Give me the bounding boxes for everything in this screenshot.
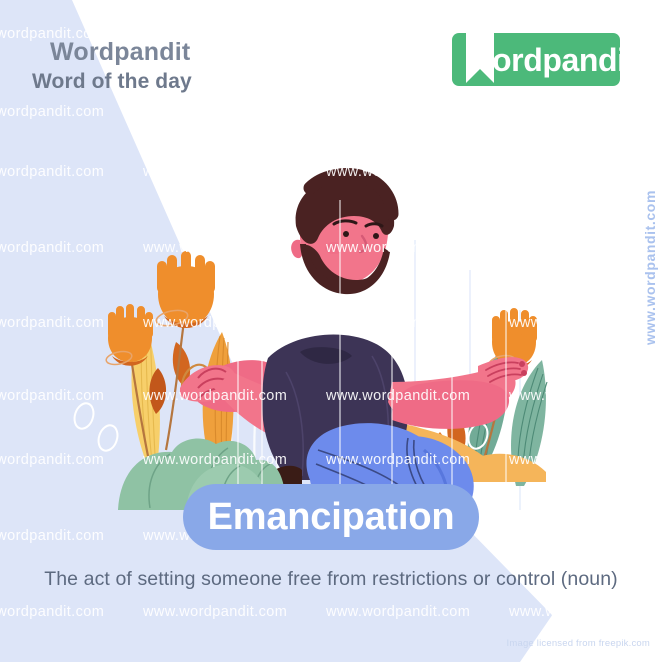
word-pill: Emancipation [183, 484, 479, 550]
bookmark-w-icon [466, 29, 494, 83]
brand-title: Wordpandit [50, 38, 190, 67]
image-credit: Image licensed from freepik.com [507, 638, 650, 649]
word-of-the-day-card: www.wordpandit.comwww.wordpandit.comwww.… [0, 0, 662, 662]
word-definition: The act of setting someone free from res… [0, 568, 662, 591]
wordpandit-logo[interactable]: ordpandit [452, 33, 620, 86]
watermark-vertical: www.wordpandit.com [642, 190, 658, 345]
illustration [0, 120, 662, 510]
word-term: Emancipation [208, 498, 455, 536]
brand-subtitle: Word of the day [32, 70, 192, 94]
logo-text: ordpandit [492, 42, 636, 79]
